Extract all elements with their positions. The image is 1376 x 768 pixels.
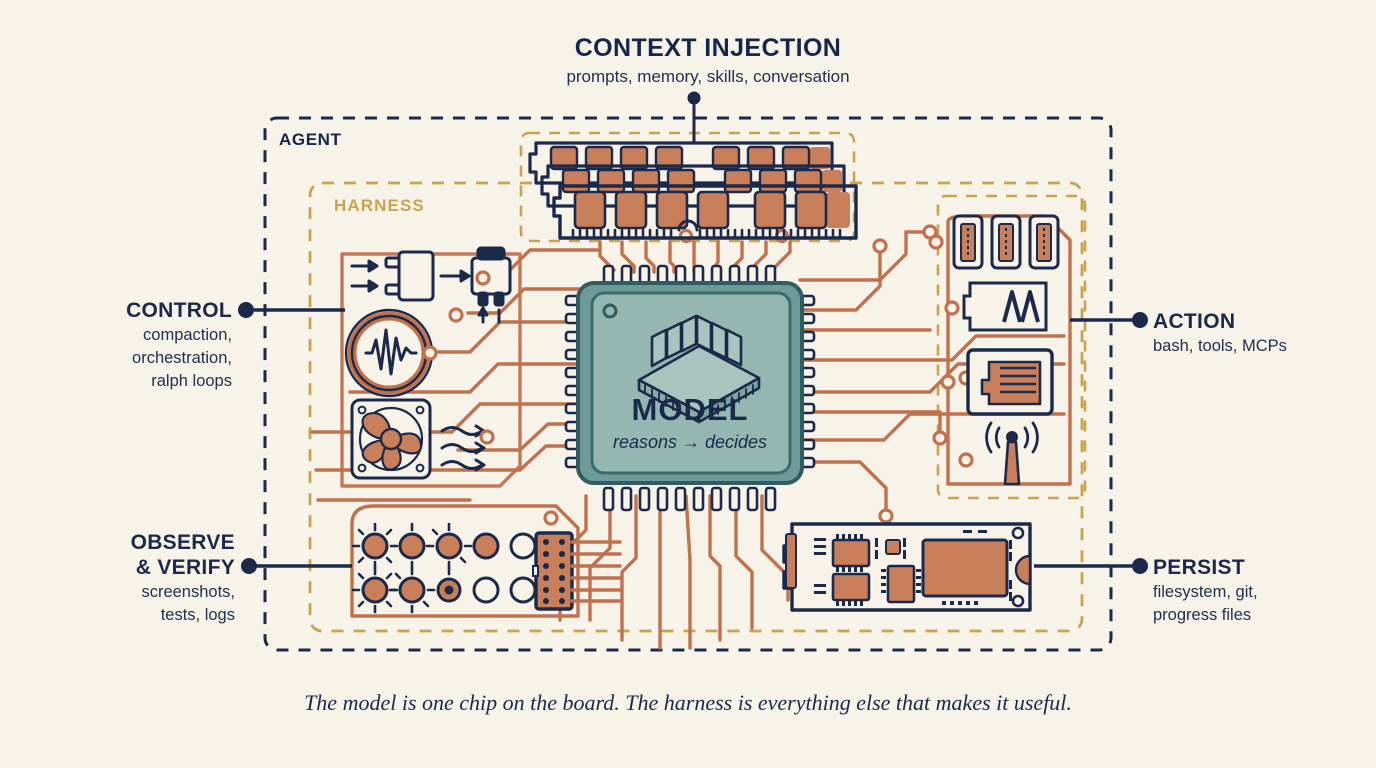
context-injection-title: CONTEXT INJECTION prompts, memory, skill…: [428, 33, 988, 88]
label-observe-verify: OBSERVE & VERIFY screenshots, tests, log…: [0, 530, 235, 626]
diagram-caption: The model is one chip on the board. The …: [0, 690, 1376, 716]
model-chip: [566, 266, 814, 510]
harness-box-label: HARNESS: [334, 196, 425, 216]
label-persist-title: PERSIST: [1153, 555, 1373, 580]
diagram-canvas: .ink{stroke:#1b2a4a;fill:none;stroke-lin…: [0, 0, 1376, 768]
context-injection-heading: CONTEXT INJECTION: [428, 33, 988, 63]
label-persist-line-2: progress files: [1153, 605, 1373, 626]
label-persist: PERSIST filesystem, git, progress files: [1153, 555, 1373, 626]
label-observe-verify-line-1: screenshots,: [0, 582, 235, 603]
label-control-line-3: ralph loops: [0, 371, 232, 392]
label-control-line-1: compaction,: [0, 325, 232, 346]
label-control: CONTROL compaction, orchestration, ralph…: [0, 298, 232, 392]
model-chip-text: MODEL reasons → decides: [578, 392, 802, 454]
m2-ssd-board-icon: [784, 524, 1030, 610]
context-injection-subheading: prompts, memory, skills, conversation: [428, 66, 988, 88]
label-action-title: ACTION: [1153, 309, 1373, 334]
label-control-line-2: orchestration,: [0, 348, 232, 369]
label-action-line-1: bash, tools, MCPs: [1153, 336, 1373, 357]
agent-box-label: AGENT: [279, 130, 342, 150]
model-chip-name: MODEL: [578, 392, 802, 428]
model-chip-tagline: reasons → decides: [578, 430, 802, 454]
label-persist-line-1: filesystem, git,: [1153, 582, 1373, 603]
label-observe-verify-line-2: tests, logs: [0, 605, 235, 626]
label-observe-verify-title-1: OBSERVE: [0, 530, 235, 555]
label-action: ACTION bash, tools, MCPs: [1153, 309, 1373, 357]
label-control-title: CONTROL: [0, 298, 232, 323]
label-observe-verify-title-2: & VERIFY: [0, 555, 235, 580]
